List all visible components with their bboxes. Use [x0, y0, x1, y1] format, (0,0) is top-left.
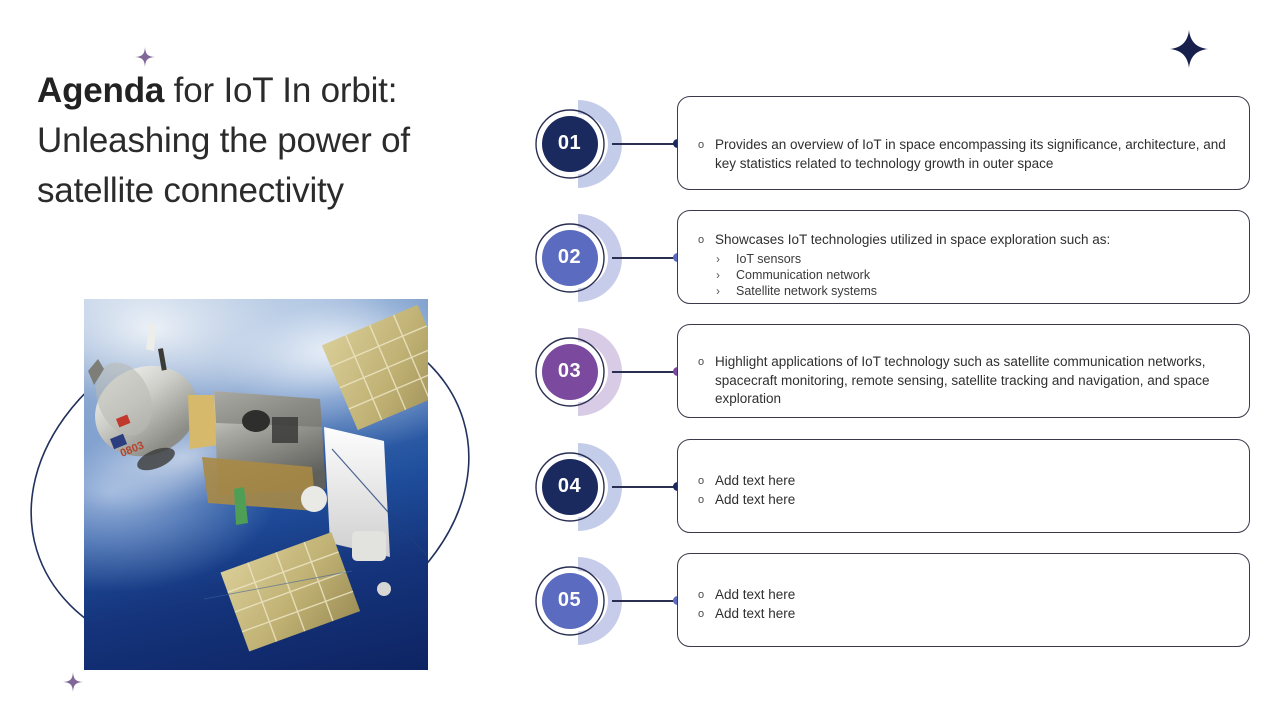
spacecraft-illustration: 0803: [84, 299, 428, 670]
sub-bullet-marker: ›: [716, 251, 736, 267]
agenda-steps: 01 o Provides an overview of IoT in spac…: [500, 0, 1280, 720]
bullet-text: Highlight applications of IoT technology…: [715, 353, 1229, 409]
sub-bullet-marker: ›: [716, 267, 736, 283]
step-card[interactable]: o Provides an overview of IoT in space e…: [677, 96, 1250, 190]
sub-bullet-text: Satellite network systems: [736, 283, 877, 299]
bullet-item: o Add text here: [698, 586, 1229, 605]
bullet-marker: o: [698, 231, 715, 250]
bullet-item: o Provides an overview of IoT in space e…: [698, 136, 1229, 173]
sub-bullet-text: IoT sensors: [736, 251, 801, 267]
step-connector: [612, 257, 678, 259]
bullet-text: Add text here: [715, 605, 1229, 624]
sub-bullet-item: › IoT sensors: [698, 251, 1229, 267]
bullet-text: Add text here: [715, 491, 1229, 510]
bullet-marker: o: [698, 491, 715, 510]
bullet-item: o Add text here: [698, 472, 1229, 491]
left-column: Agenda for IoT In orbit: Unleashing the …: [0, 0, 500, 720]
satellite-image: 0803: [84, 299, 428, 670]
bullet-text: Add text here: [715, 586, 1229, 605]
bullet-marker: o: [698, 353, 715, 372]
bullet-text: Provides an overview of IoT in space enc…: [715, 136, 1229, 173]
step-card[interactable]: o Add text here o Add text here: [677, 439, 1250, 533]
step-card[interactable]: o Showcases IoT technologies utilized in…: [677, 210, 1250, 304]
slide-root: Agenda for IoT In orbit: Unleashing the …: [0, 0, 1280, 720]
sub-bullet-list: › IoT sensors › Communication network › …: [698, 251, 1229, 299]
bullet-item: o Add text here: [698, 605, 1229, 624]
step-connector: [612, 143, 678, 145]
step-card[interactable]: o Add text here o Add text here: [677, 553, 1250, 647]
bullet-text: Showcases IoT technologies utilized in s…: [715, 231, 1229, 250]
bullet-marker: o: [698, 472, 715, 491]
bullet-item: o Showcases IoT technologies utilized in…: [698, 231, 1229, 250]
bullet-marker: o: [698, 605, 715, 624]
page-title: Agenda for IoT In orbit: Unleashing the …: [37, 66, 457, 216]
page-title-emphasis: Agenda: [37, 71, 164, 110]
bullet-marker: o: [698, 136, 715, 155]
sub-bullet-marker: ›: [716, 283, 736, 299]
step-card[interactable]: o Highlight applications of IoT technolo…: [677, 324, 1250, 418]
sub-bullet-item: › Satellite network systems: [698, 283, 1229, 299]
sub-bullet-text: Communication network: [736, 267, 870, 283]
bullet-item: o Add text here: [698, 491, 1229, 510]
sub-bullet-item: › Communication network: [698, 267, 1229, 283]
step-connector: [612, 600, 678, 602]
step-connector: [612, 486, 678, 488]
bullet-item: o Highlight applications of IoT technolo…: [698, 353, 1229, 409]
bullet-marker: o: [698, 586, 715, 605]
bullet-text: Add text here: [715, 472, 1229, 491]
step-connector: [612, 371, 678, 373]
